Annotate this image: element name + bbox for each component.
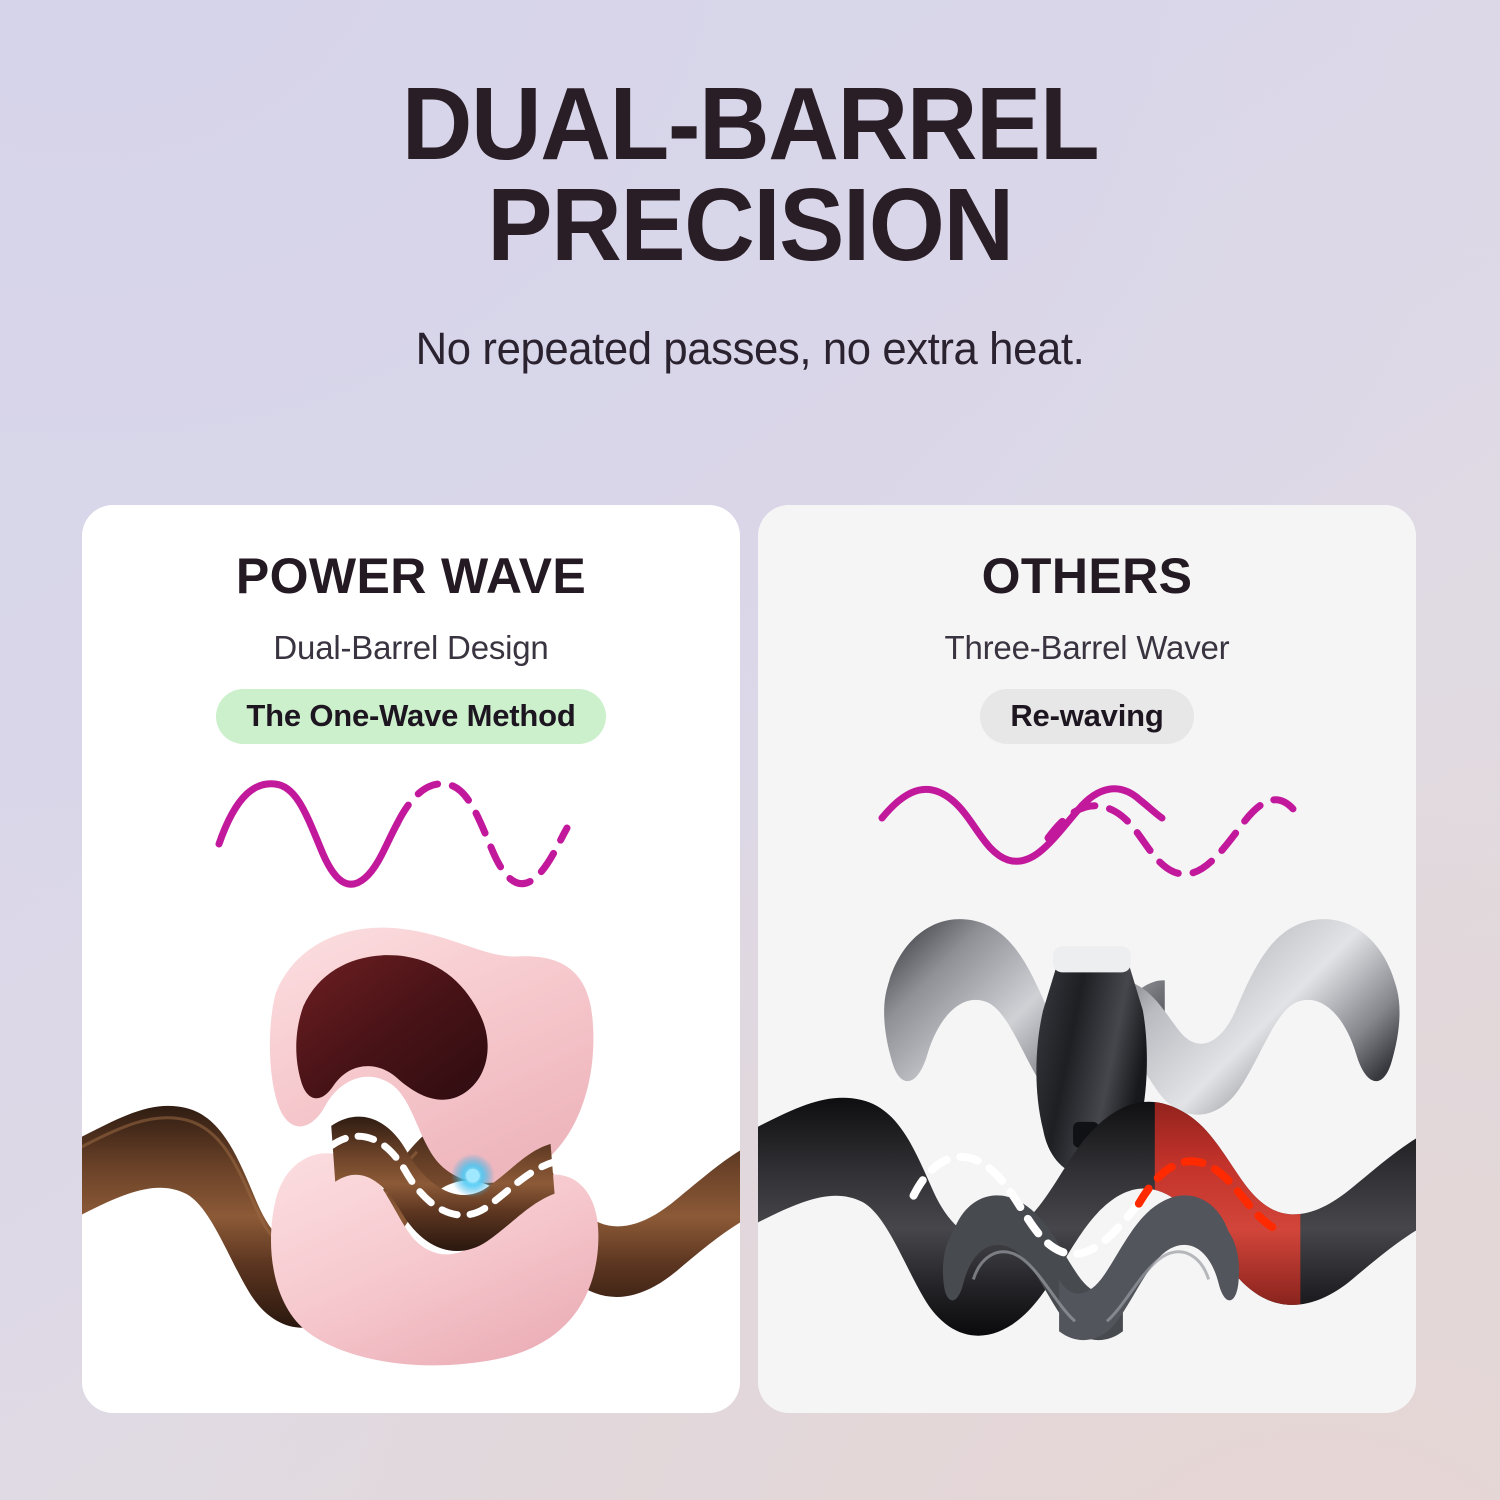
wave-diagram-power-wave [82, 744, 740, 896]
card-power-wave-badge-row: The One-Wave Method [82, 667, 740, 744]
wave-dashed-second-pass [1048, 800, 1294, 874]
wave-solid-segment [219, 784, 397, 884]
header: DUAL-BARREL PRECISION No repeated passes… [0, 0, 1500, 375]
product-image-power-wave [82, 893, 740, 1413]
card-others-badge-row: Re-waving [758, 667, 1416, 744]
product-image-others [758, 893, 1416, 1413]
badge-re-waving: Re-waving [980, 689, 1193, 744]
product-svg-power [82, 893, 740, 1413]
wave-solid-pass [882, 789, 1162, 862]
card-power-wave[interactable]: POWER WAVE Dual-Barrel Design The One-Wa… [82, 505, 740, 1413]
wave-svg-others [872, 766, 1302, 896]
card-power-wave-subtitle: Dual-Barrel Design [82, 605, 740, 667]
card-others-title: OTHERS [758, 547, 1416, 605]
badge-one-wave-method: The One-Wave Method [216, 689, 605, 744]
card-others[interactable]: OTHERS Three-Barrel Waver Re-waving [758, 505, 1416, 1413]
device-top-cap [1053, 946, 1131, 972]
wave-dashed-segment [397, 784, 567, 884]
infographic-page: DUAL-BARREL PRECISION No repeated passes… [0, 0, 1500, 1500]
page-title: DUAL-BARREL PRECISION [38, 0, 1463, 276]
card-others-header: OTHERS Three-Barrel Waver Re-waving [758, 505, 1416, 744]
wave-svg-power [211, 766, 611, 896]
product-svg-others [758, 893, 1416, 1413]
device-barrel-upper-right [1119, 919, 1400, 1115]
card-power-wave-title: POWER WAVE [82, 547, 740, 605]
page-subtitle: No repeated passes, no extra heat. [23, 276, 1478, 375]
glow-core-blue [466, 1169, 480, 1183]
card-power-wave-header: POWER WAVE Dual-Barrel Design The One-Wa… [82, 505, 740, 744]
comparison-cards: POWER WAVE Dual-Barrel Design The One-Wa… [82, 505, 1416, 1413]
wave-diagram-others [758, 744, 1416, 896]
card-others-subtitle: Three-Barrel Waver [758, 605, 1416, 667]
